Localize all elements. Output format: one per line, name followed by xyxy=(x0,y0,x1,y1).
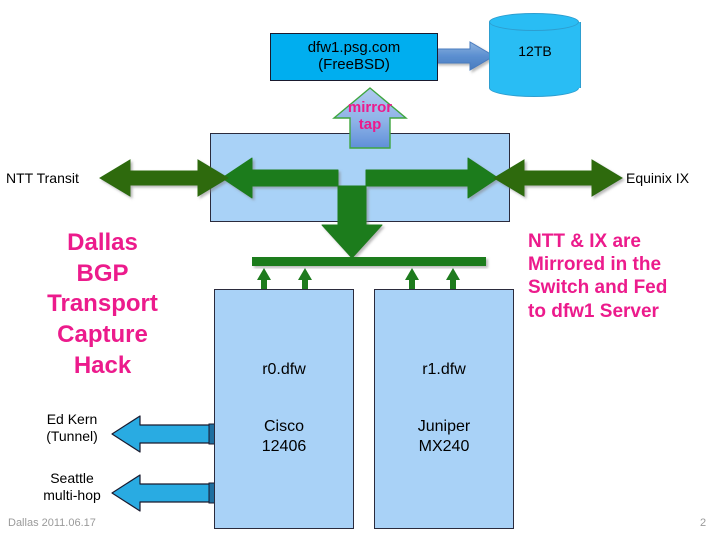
router-vendor-line: Juniper xyxy=(418,417,470,437)
footer-page-number: 2 xyxy=(700,517,706,529)
router-model: Juniper MX240 xyxy=(418,417,470,457)
peer-label-line2: multi-hop xyxy=(22,487,122,504)
router-box-r1[interactable]: r1.dfw Juniper MX240 xyxy=(374,289,514,529)
peer-arrow-ed-kern xyxy=(112,416,216,452)
router-model-line: 12406 xyxy=(262,437,307,457)
peer-label-line1: Seattle xyxy=(22,470,122,487)
storage-capacity-label: 12TB xyxy=(489,43,581,59)
peer-arrows xyxy=(112,416,216,511)
router-name: r1.dfw xyxy=(422,361,466,379)
slide-canvas: dfw1.psg.com (FreeBSD) 12TB mirror tap N… xyxy=(0,0,720,540)
router-model-line: MX240 xyxy=(418,437,470,457)
server-hostname: dfw1.psg.com xyxy=(308,40,401,57)
router-name: r0.dfw xyxy=(262,361,306,379)
arrow-layer-over xyxy=(0,0,720,540)
label-seattle: Seattle multi-hop xyxy=(22,470,122,504)
storage-cylinder[interactable]: 12TB xyxy=(489,13,581,97)
peer-label-line1: Ed Kern xyxy=(22,411,122,428)
router-vendor-line: Cisco xyxy=(262,417,307,437)
router-model: Cisco 12406 xyxy=(262,417,307,457)
peer-label-line2: (Tunnel) xyxy=(22,428,122,445)
router-bus-bar xyxy=(252,257,486,266)
peer-arrow-seattle xyxy=(112,475,216,511)
server-os: (FreeBSD) xyxy=(318,57,390,74)
transit-ix-mirror-arrows xyxy=(100,158,622,258)
router-box-r0[interactable]: r0.dfw Cisco 12406 xyxy=(214,289,354,529)
cylinder-top-ellipse xyxy=(489,13,579,31)
server-box[interactable]: dfw1.psg.com (FreeBSD) xyxy=(270,33,438,81)
label-ed-kern: Ed Kern (Tunnel) xyxy=(22,411,122,445)
footer-date: Dallas 2011.06.17 xyxy=(8,517,96,529)
